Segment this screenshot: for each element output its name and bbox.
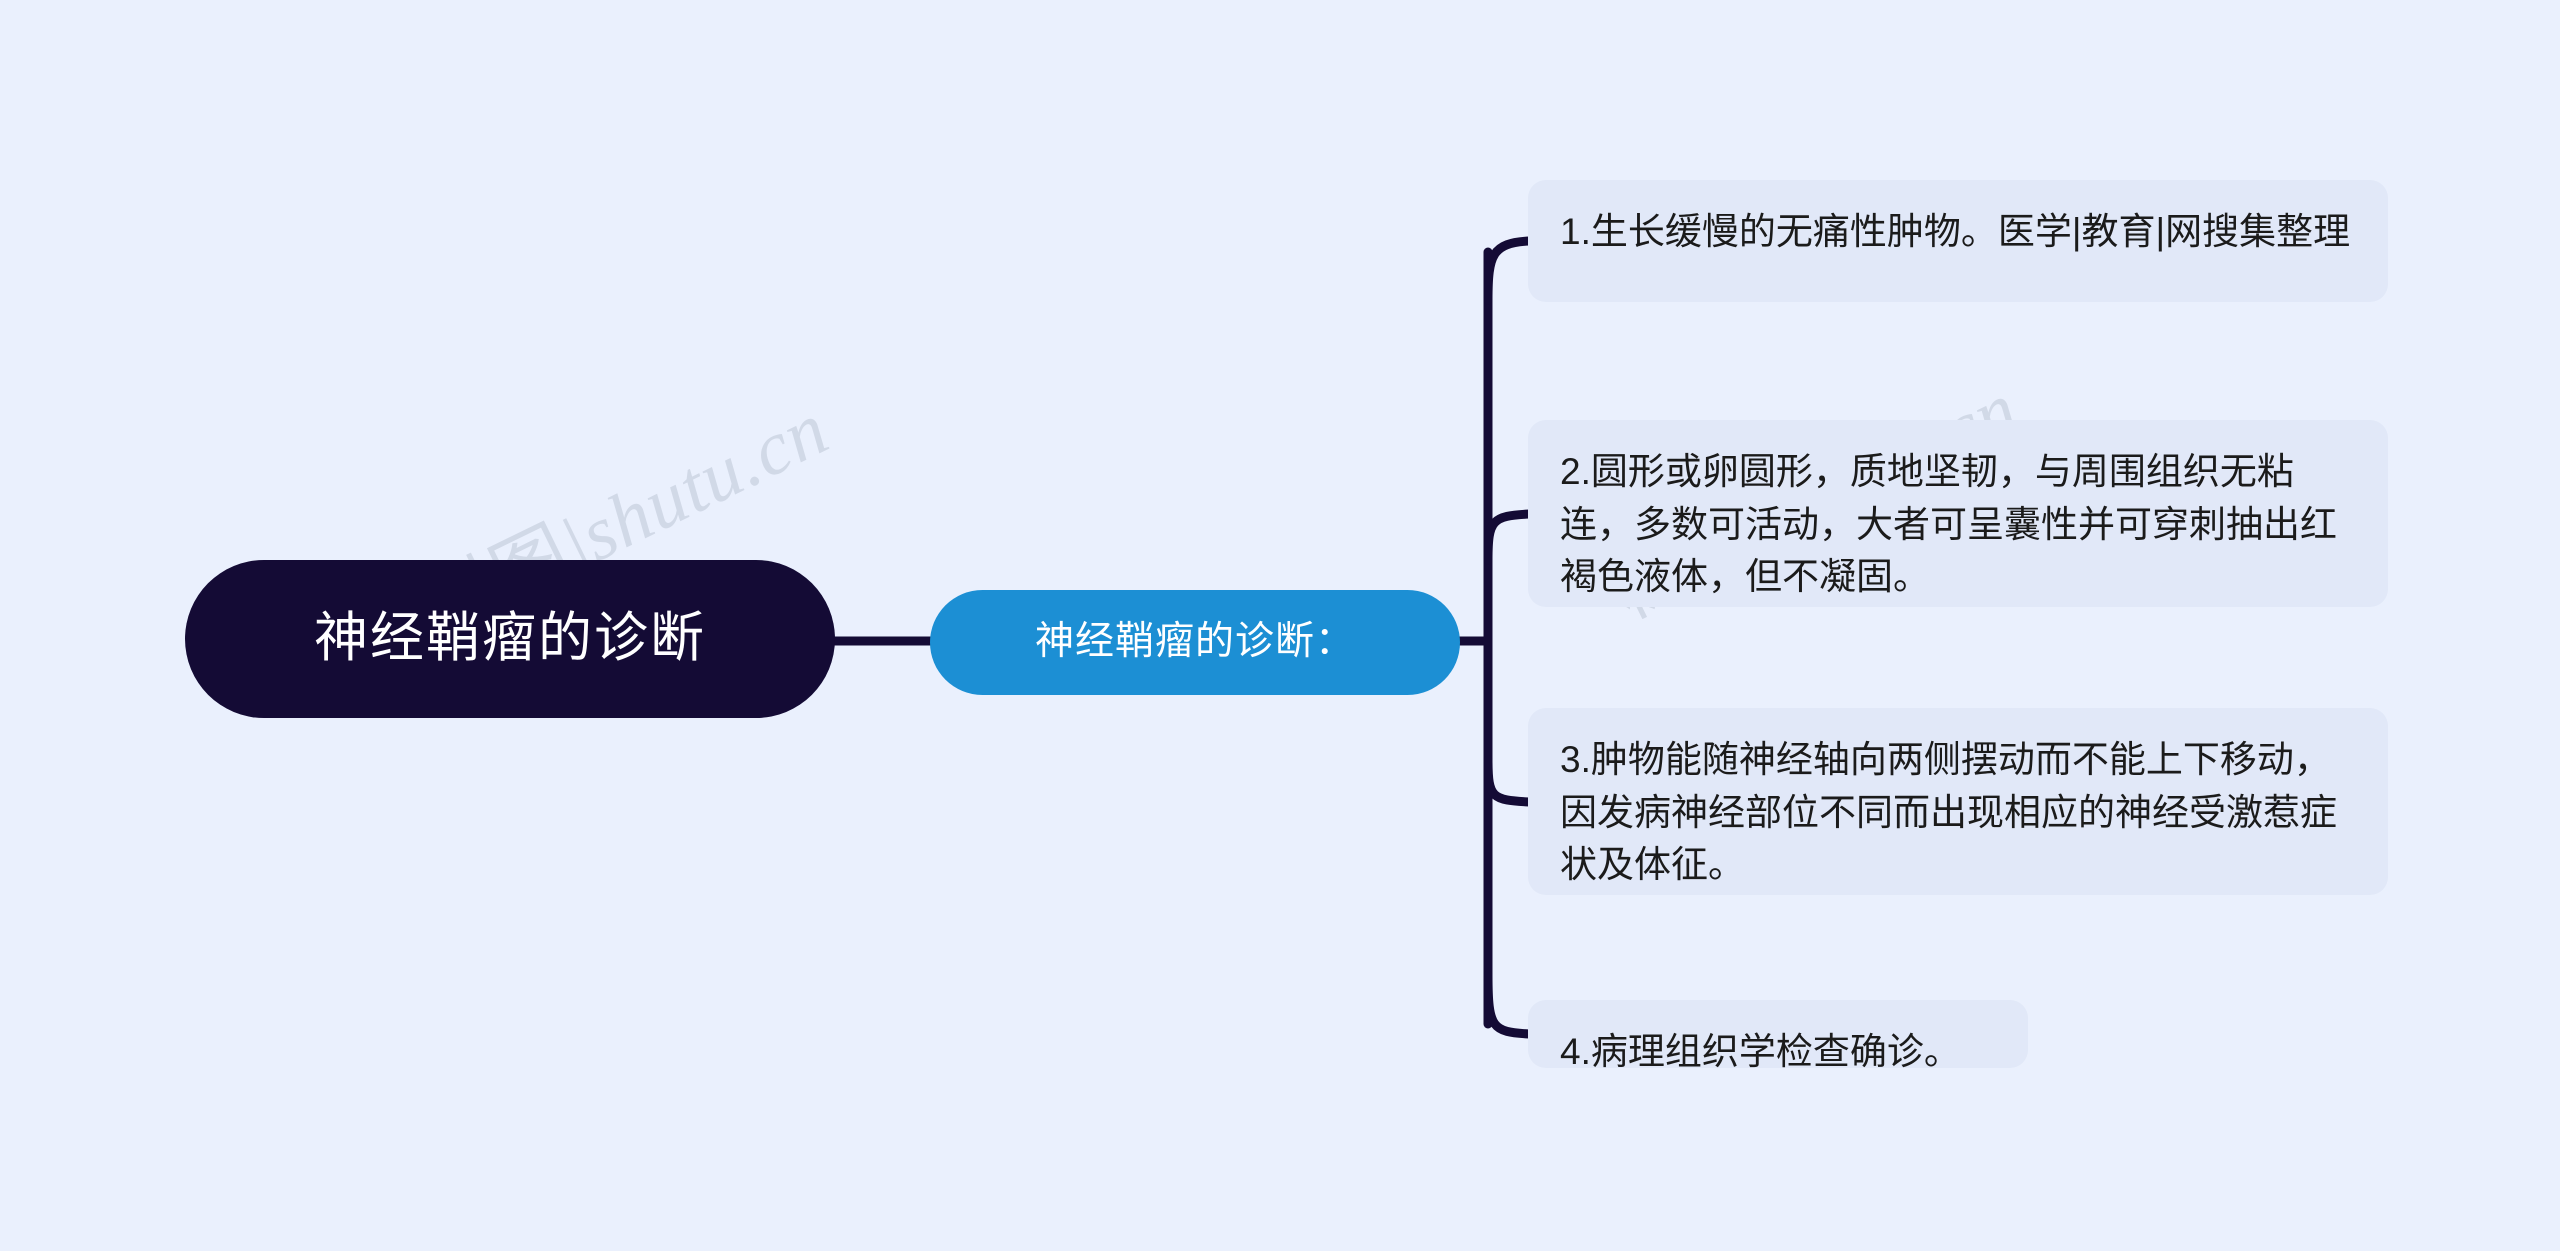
mindmap-leaf-label-3: 3.肿物能随神经轴向两侧摆动而不能上下移动，因发病神经部位不同而出现相应的神经受… [1560,734,2358,892]
connector-to-leaf-4 [1488,975,1529,1034]
mindmap-leaf-node-4[interactable]: 4.病理组织学检查确诊。 [1528,1000,2028,1068]
mindmap-leaf-node-2[interactable]: 2.圆形或卵圆形，质地坚韧，与周围组织无粘连，多数可活动，大者可呈囊性并可穿刺抽… [1528,420,2388,607]
mindmap-canvas: 树图|shutu.cn 树图|shutu.cn 神经鞘瘤的诊断 神经鞘瘤的诊断：… [0,0,2560,1251]
mindmap-leaf-label-2: 2.圆形或卵圆形，质地坚韧，与周围组织无粘连，多数可活动，大者可呈囊性并可穿刺抽… [1560,446,2358,604]
mindmap-branch-node[interactable]: 神经鞘瘤的诊断： [930,590,1460,695]
mindmap-root-label: 神经鞘瘤的诊断 [314,609,706,668]
mindmap-leaf-label-1: 1.生长缓慢的无痛性肿物。医学|教育|网搜集整理 [1560,206,2358,259]
connector-to-leaf-2 [1488,514,1529,560]
watermark-left-domain: shutu.cn [567,386,841,577]
mindmap-root-node[interactable]: 神经鞘瘤的诊断 [185,560,835,718]
connector-to-leaf-1 [1488,241,1529,300]
mindmap-leaf-node-3[interactable]: 3.肿物能随神经轴向两侧摆动而不能上下移动，因发病神经部位不同而出现相应的神经受… [1528,708,2388,895]
connector-to-leaf-3 [1488,760,1529,802]
mindmap-branch-label: 神经鞘瘤的诊断： [1035,621,1355,664]
mindmap-leaf-node-1[interactable]: 1.生长缓慢的无痛性肿物。医学|教育|网搜集整理 [1528,180,2388,302]
mindmap-leaf-label-4: 4.病理组织学检查确诊。 [1560,1026,1998,1079]
